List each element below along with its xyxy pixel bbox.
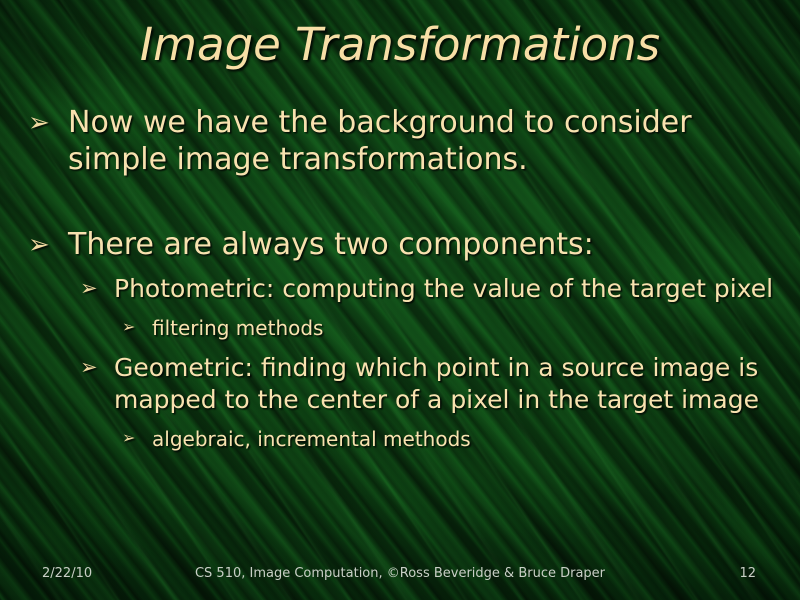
arrow-bullet-icon: ➢ bbox=[80, 352, 114, 378]
slide-body: ➢ Now we have the background to consider… bbox=[28, 104, 778, 453]
slide-title: Image Transformations bbox=[0, 18, 800, 71]
bullet-item-level2: ➢ Geometric: finding which point in a so… bbox=[80, 352, 778, 416]
bullet-text: algebraic, incremental methods bbox=[152, 426, 778, 453]
arrow-bullet-icon: ➢ bbox=[80, 273, 114, 299]
bullet-text: There are always two components: bbox=[68, 226, 778, 263]
slide-footer: 2/22/10 CS 510, Image Computation, ©Ross… bbox=[0, 564, 800, 584]
bullet-item-level1: ➢ There are always two components: bbox=[28, 226, 778, 263]
bullet-text: Geometric: finding which point in a sour… bbox=[114, 352, 778, 416]
bullet-spacer bbox=[28, 305, 778, 315]
arrow-bullet-icon: ➢ bbox=[122, 315, 152, 335]
bullet-spacer bbox=[28, 342, 778, 352]
arrow-bullet-icon: ➢ bbox=[28, 226, 68, 258]
footer-attribution: CS 510, Image Computation, ©Ross Beverid… bbox=[0, 564, 800, 584]
bullet-spacer bbox=[28, 416, 778, 426]
bullet-text: Now we have the background to consider s… bbox=[68, 104, 778, 178]
footer-page-number: 12 bbox=[739, 564, 756, 584]
bullet-item-level3: ➢ filtering methods bbox=[122, 315, 778, 342]
bullet-text: filtering methods bbox=[152, 315, 778, 342]
bullet-item-level1: ➢ Now we have the background to consider… bbox=[28, 104, 778, 178]
bullet-text: Photometric: computing the value of the … bbox=[114, 273, 778, 305]
arrow-bullet-icon: ➢ bbox=[122, 426, 152, 446]
arrow-bullet-icon: ➢ bbox=[28, 104, 68, 136]
bullet-item-level3: ➢ algebraic, incremental methods bbox=[122, 426, 778, 453]
bullet-spacer bbox=[28, 263, 778, 273]
bullet-item-level2: ➢ Photometric: computing the value of th… bbox=[80, 273, 778, 305]
presentation-slide: Image Transformations ➢ Now we have the … bbox=[0, 0, 800, 600]
bullet-spacer bbox=[28, 178, 778, 226]
slide-content: Image Transformations ➢ Now we have the … bbox=[0, 0, 800, 600]
